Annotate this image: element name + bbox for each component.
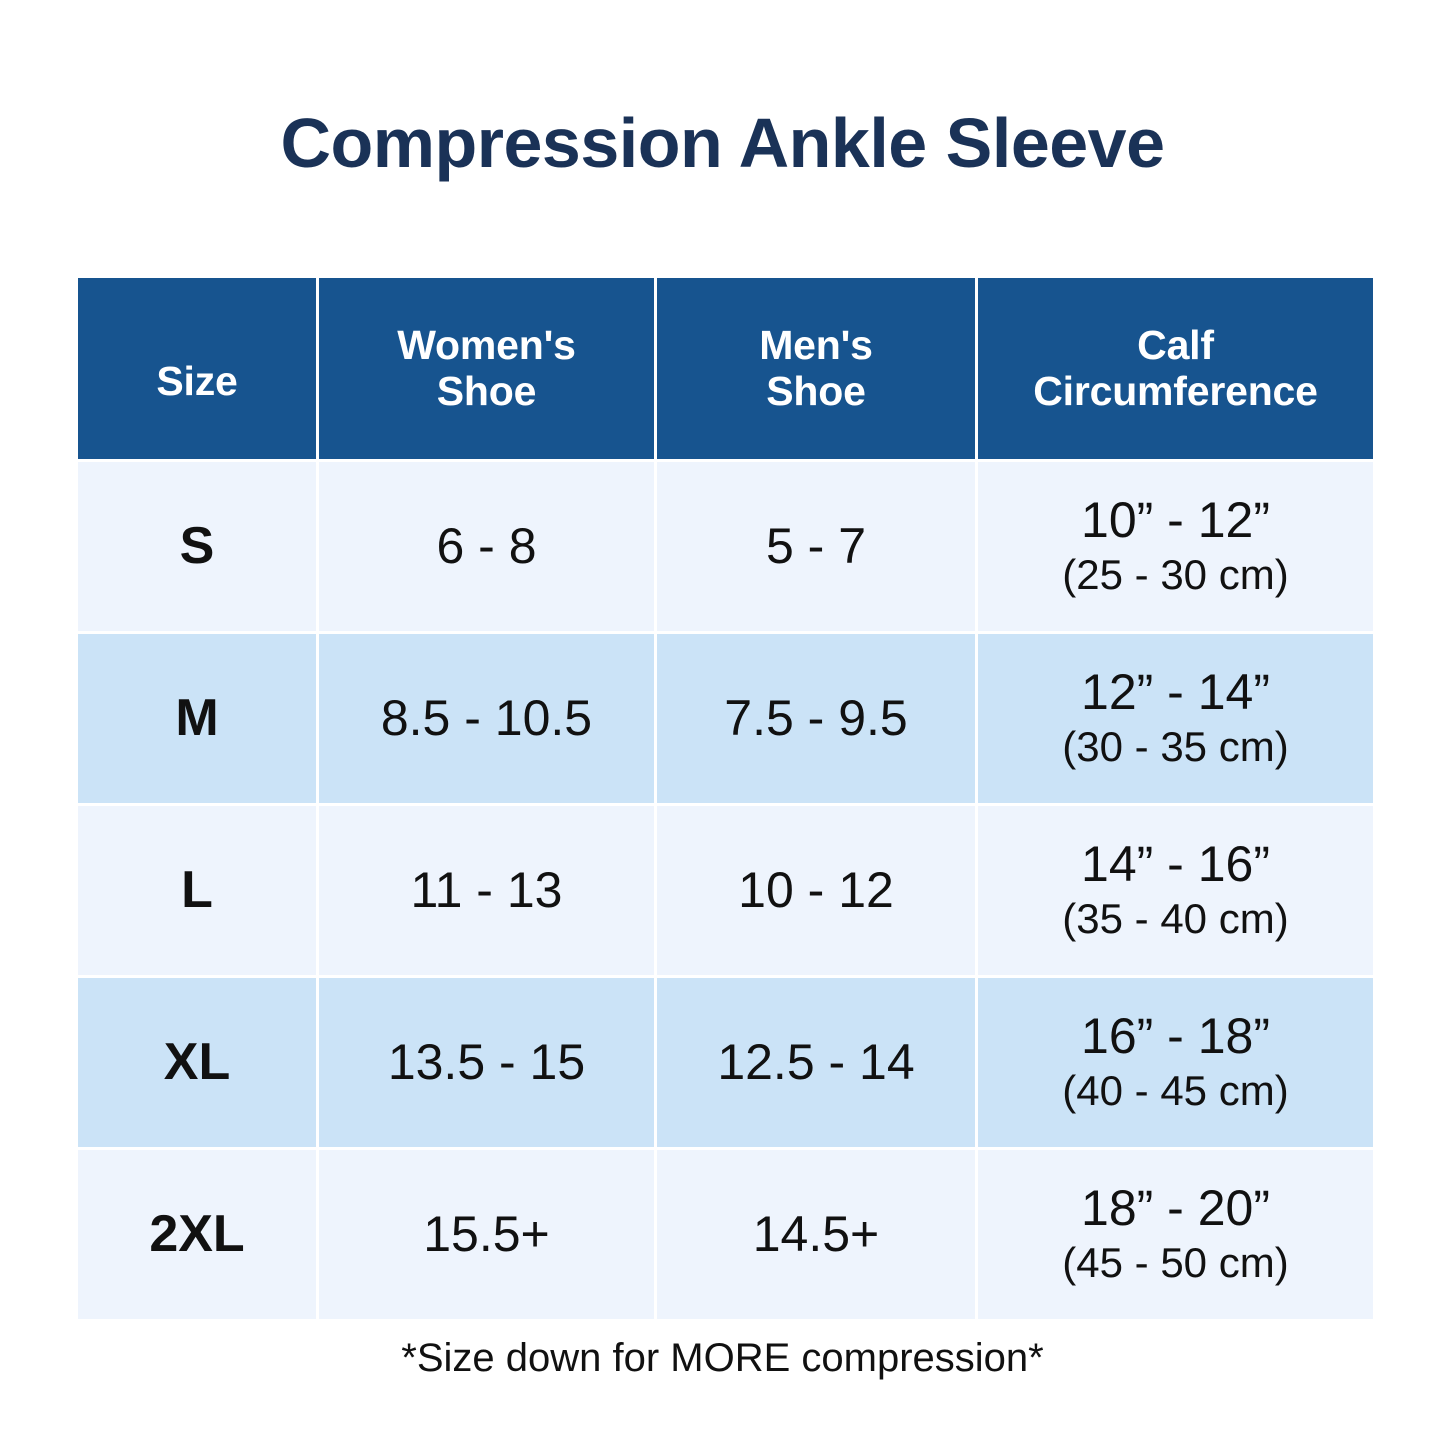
column-header-calf-circumference: Calf Circumference — [978, 278, 1373, 459]
cell-womens-shoe: 6 - 8 — [319, 462, 654, 631]
table-row: S 6 - 8 5 - 7 10” - 12” (25 - 30 cm) — [78, 462, 1373, 631]
column-header-mens-line2: Shoe — [766, 368, 865, 414]
page-title: Compression Ankle Sleeve — [0, 108, 1445, 178]
column-header-mens-line1: Men's — [759, 322, 873, 368]
calf-centimeters: (40 - 45 cm) — [982, 1066, 1369, 1116]
cell-mens-shoe: 12.5 - 14 — [657, 978, 975, 1147]
column-header-size: Size — [78, 278, 316, 459]
calf-centimeters: (30 - 35 cm) — [982, 722, 1369, 772]
cell-womens-shoe: 15.5+ — [319, 1150, 654, 1319]
table-row: 2XL 15.5+ 14.5+ 18” - 20” (45 - 50 cm) — [78, 1150, 1373, 1319]
cell-mens-shoe: 14.5+ — [657, 1150, 975, 1319]
column-header-calf-line1: Calf — [1137, 322, 1214, 368]
column-header-womens-line2: Shoe — [437, 368, 536, 414]
table-body: S 6 - 8 5 - 7 10” - 12” (25 - 30 cm) M 8… — [78, 462, 1373, 1319]
cell-womens-shoe: 11 - 13 — [319, 806, 654, 975]
cell-size: L — [78, 806, 316, 975]
compression-note: *Size down for MORE compression* — [0, 1336, 1445, 1381]
column-header-calf-line2: Circumference — [1033, 368, 1318, 414]
size-chart-table: Size Women's Shoe Men's Shoe Calf Circum… — [75, 275, 1376, 1322]
cell-size: XL — [78, 978, 316, 1147]
calf-inches: 18” - 20” — [982, 1180, 1369, 1236]
cell-calf-circumference: 10” - 12” (25 - 30 cm) — [978, 462, 1373, 631]
table-row: L 11 - 13 10 - 12 14” - 16” (35 - 40 cm) — [78, 806, 1373, 975]
table-row: XL 13.5 - 15 12.5 - 14 16” - 18” (40 - 4… — [78, 978, 1373, 1147]
cell-size: S — [78, 462, 316, 631]
cell-mens-shoe: 10 - 12 — [657, 806, 975, 975]
cell-calf-circumference: 14” - 16” (35 - 40 cm) — [978, 806, 1373, 975]
cell-calf-circumference: 12” - 14” (30 - 35 cm) — [978, 634, 1373, 803]
cell-mens-shoe: 7.5 - 9.5 — [657, 634, 975, 803]
calf-centimeters: (45 - 50 cm) — [982, 1238, 1369, 1288]
size-chart-page: Compression Ankle Sleeve Size Women's Sh… — [0, 0, 1445, 1445]
calf-inches: 12” - 14” — [982, 664, 1369, 720]
table-header: Size Women's Shoe Men's Shoe Calf Circum… — [78, 278, 1373, 459]
header-row: Size Women's Shoe Men's Shoe Calf Circum… — [78, 278, 1373, 459]
cell-womens-shoe: 13.5 - 15 — [319, 978, 654, 1147]
cell-calf-circumference: 18” - 20” (45 - 50 cm) — [978, 1150, 1373, 1319]
calf-centimeters: (25 - 30 cm) — [982, 550, 1369, 600]
column-header-womens-shoe: Women's Shoe — [319, 278, 654, 459]
column-header-mens-shoe: Men's Shoe — [657, 278, 975, 459]
cell-size: 2XL — [78, 1150, 316, 1319]
calf-inches: 16” - 18” — [982, 1008, 1369, 1064]
table-row: M 8.5 - 10.5 7.5 - 9.5 12” - 14” (30 - 3… — [78, 634, 1373, 803]
calf-centimeters: (35 - 40 cm) — [982, 894, 1369, 944]
cell-calf-circumference: 16” - 18” (40 - 45 cm) — [978, 978, 1373, 1147]
calf-inches: 14” - 16” — [982, 836, 1369, 892]
cell-size: M — [78, 634, 316, 803]
cell-womens-shoe: 8.5 - 10.5 — [319, 634, 654, 803]
column-header-womens-line1: Women's — [397, 322, 575, 368]
calf-inches: 10” - 12” — [982, 492, 1369, 548]
cell-mens-shoe: 5 - 7 — [657, 462, 975, 631]
